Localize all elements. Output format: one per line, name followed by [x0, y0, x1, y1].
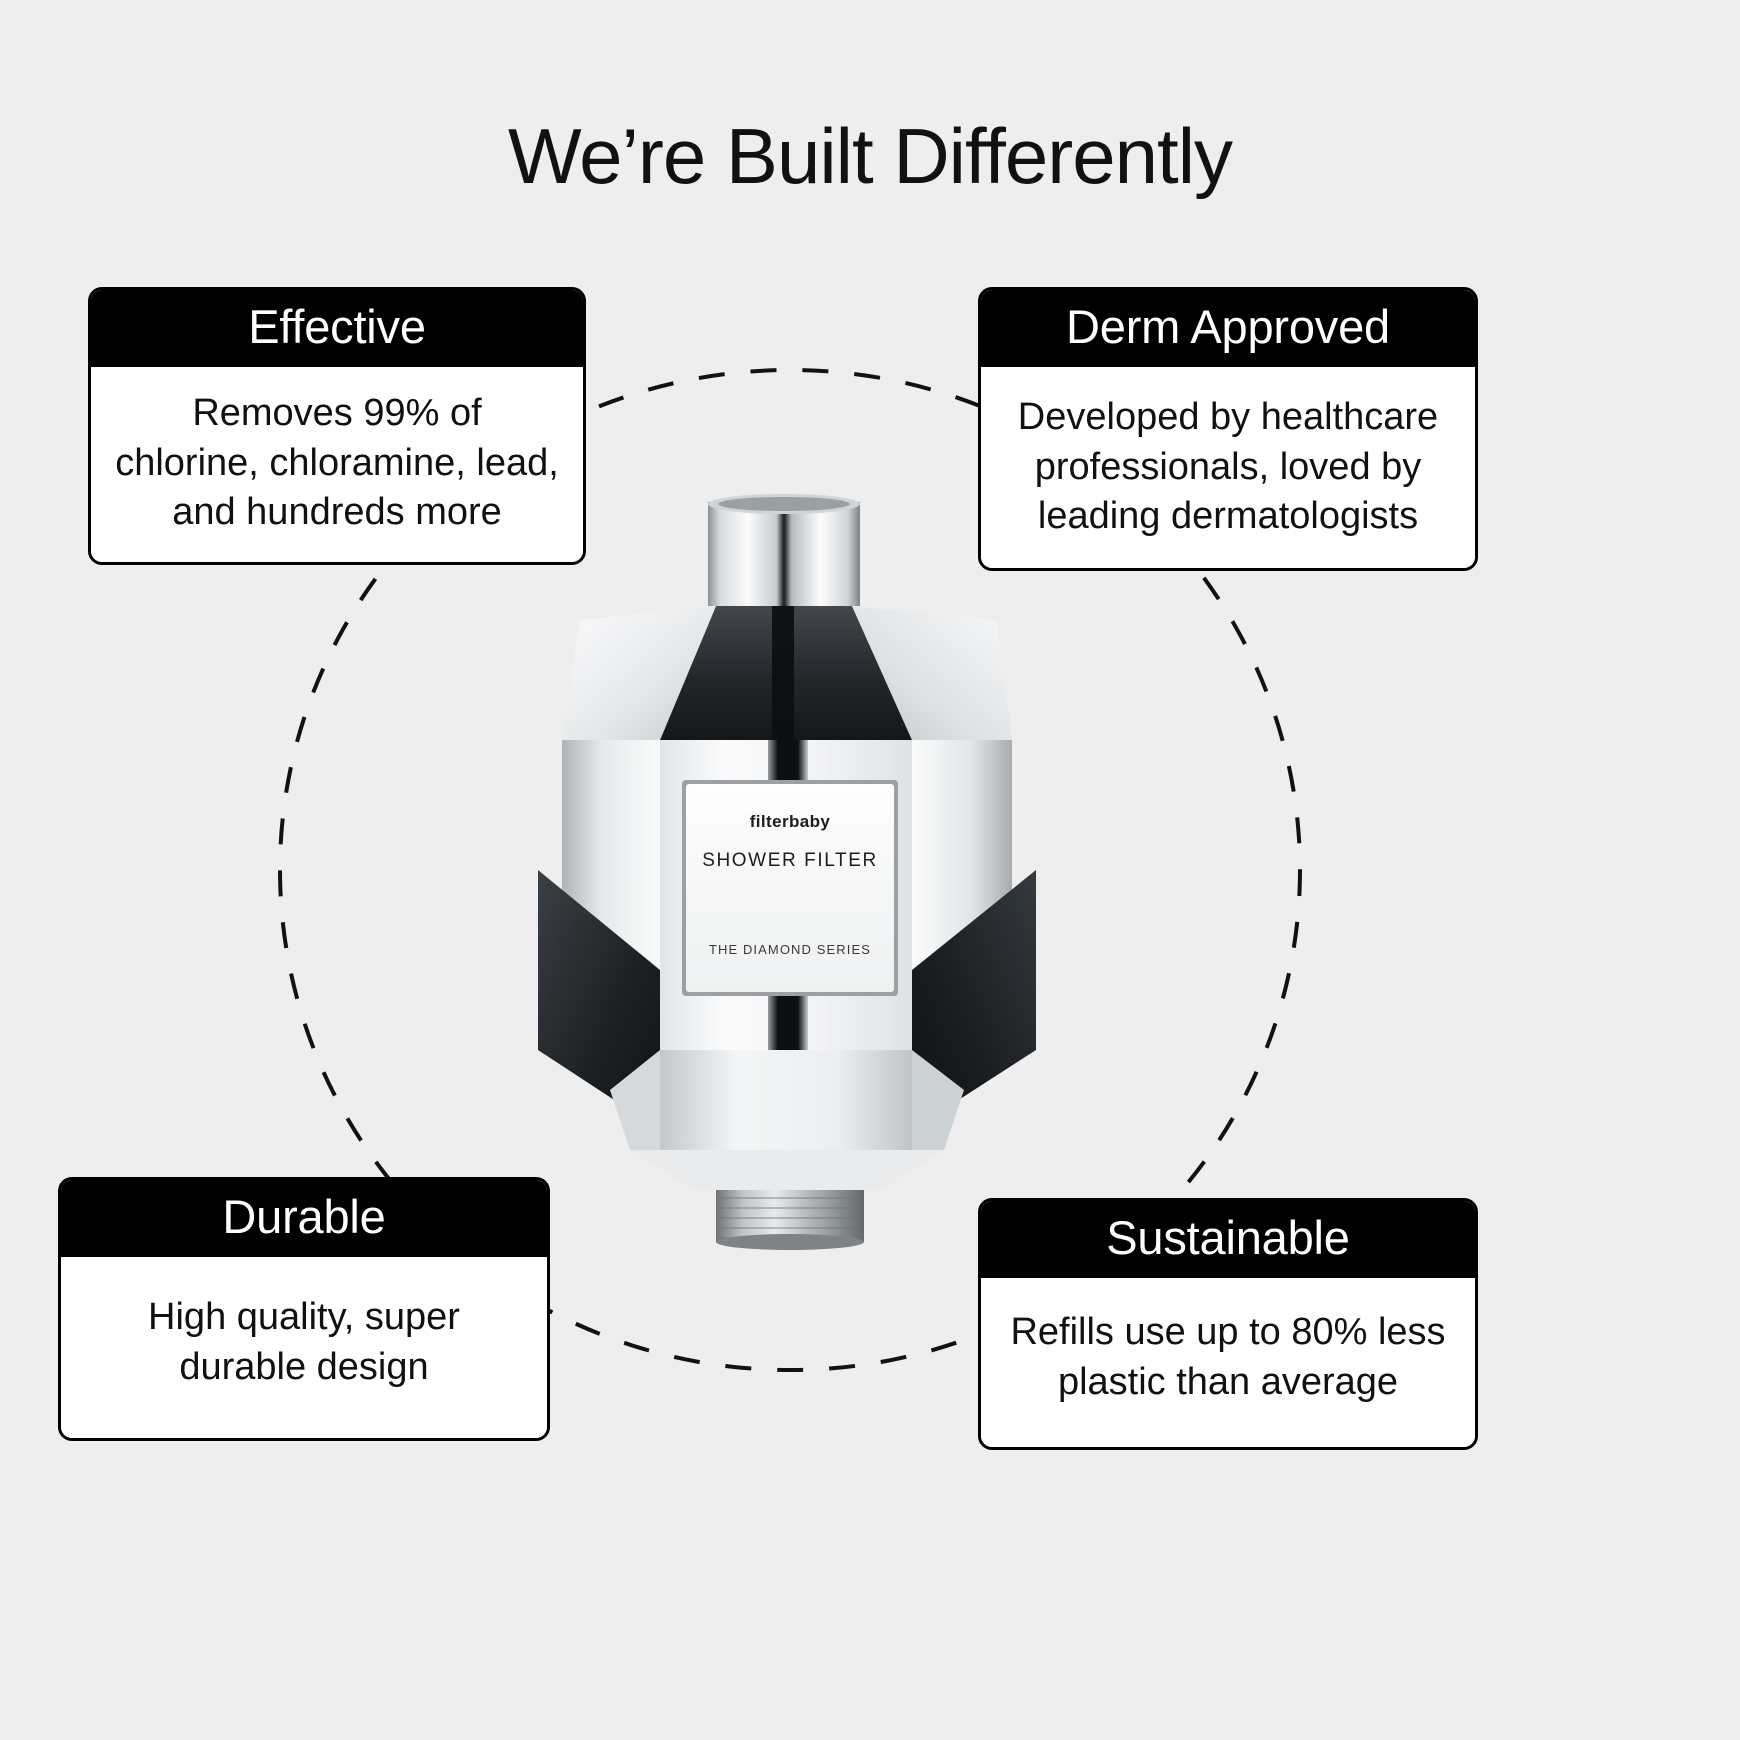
- feature-card-body: High quality, super durable design: [61, 1257, 547, 1438]
- feature-card-durable[interactable]: Durable High quality, super durable desi…: [58, 1177, 550, 1441]
- product-brand-logo: filterbaby: [520, 812, 1060, 832]
- feature-card-title: Derm Approved: [981, 290, 1475, 367]
- product-base-plate: [630, 1150, 944, 1190]
- feature-card-body: Removes 99% of chlorine, chloramine, lea…: [91, 367, 583, 561]
- product-facet-bottom: [660, 1050, 912, 1158]
- product-top-collar: [708, 494, 860, 606]
- product-label-series: THE DIAMOND SERIES: [520, 942, 1060, 957]
- page-title: We’re Built Differently: [0, 116, 1740, 198]
- product-label-name: SHOWER FILTER: [520, 850, 1060, 872]
- feature-card-title: Durable: [61, 1180, 547, 1257]
- product-center-seam-top: [772, 606, 794, 740]
- infographic-canvas: We’re Built Differently Effective Remove…: [0, 0, 1740, 1740]
- feature-card-effective[interactable]: Effective Removes 99% of chlorine, chlor…: [88, 287, 586, 565]
- product-image-shower-filter: filterbaby SHOWER FILTER THE DIAMOND SER…: [520, 490, 1060, 1250]
- feature-card-body: Refills use up to 80% less plastic than …: [981, 1278, 1475, 1447]
- product-threaded-outlet: [716, 1190, 864, 1250]
- feature-card-title: Effective: [91, 290, 583, 367]
